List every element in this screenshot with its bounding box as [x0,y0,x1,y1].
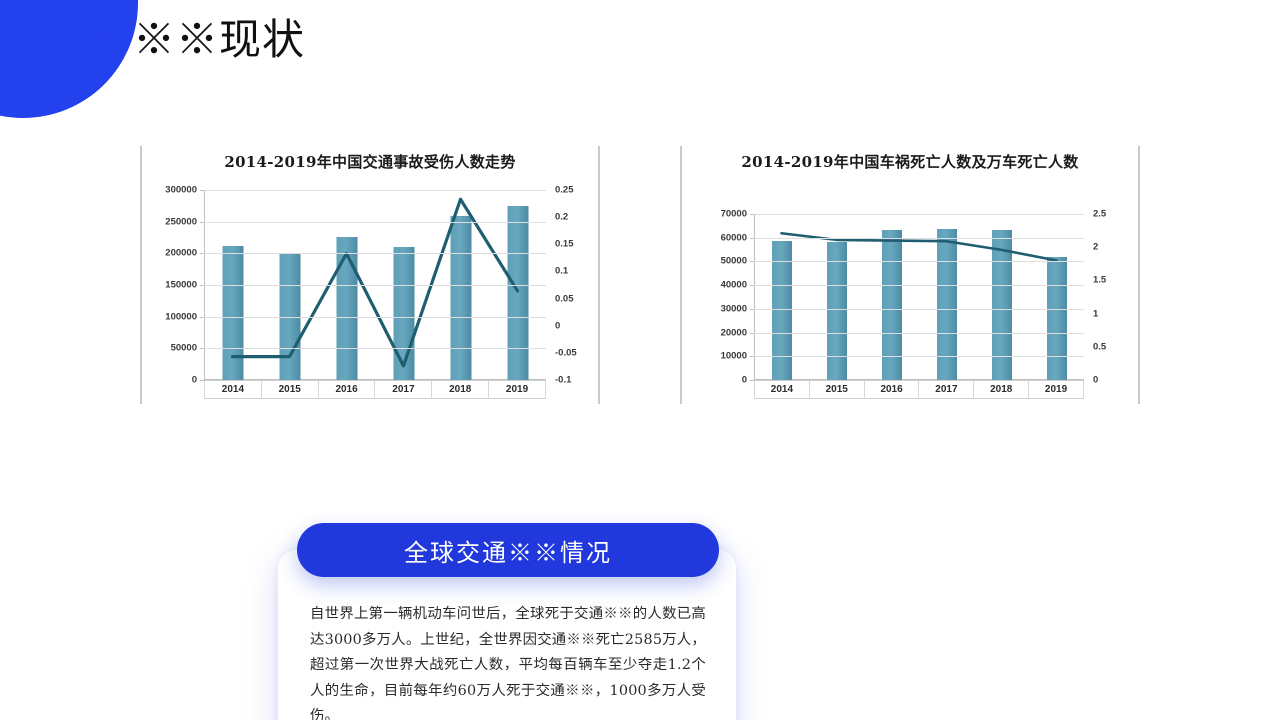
line-series-deaths [754,214,1084,380]
page-title: ※※现状 [133,12,305,68]
secondary-y-axis-tick-label: 0.25 [546,185,574,196]
y-axis-tick-label: 100000 [165,311,204,322]
chart-title-injuries: 2014-2019年中国交通事故受伤人数走势 [142,146,598,174]
x-axis-tick-label: 2016 [319,381,376,399]
secondary-y-axis-tick-label: 1 [1084,308,1098,319]
secondary-y-axis-tick-label: -0.1 [546,375,571,386]
info-card-global: 全球交通※※情况 自世界上第一辆机动车问世后，全球死于交通※※的人数已高达300… [278,550,736,720]
secondary-y-axis-tick-label: 0 [1084,375,1098,386]
grid-line [754,333,1084,334]
y-axis-tick-label: 10000 [721,351,754,362]
y-axis-tick-label: 40000 [721,280,754,291]
y-axis-tick-mark [750,333,754,334]
column-china: 2014-2019年中国车祸死亡人数及万车死亡人数 01000020000300… [680,146,1140,404]
grid-line [754,214,1084,215]
x-axis-labels-deaths: 201420152016201720182019 [754,380,1084,399]
secondary-y-axis-tick-label: 0.15 [546,239,574,250]
y-axis-tick-label: 300000 [165,185,204,196]
y-axis-tick-label: 60000 [721,232,754,243]
y-axis-tick-label: 50000 [721,256,754,267]
y-axis-tick-mark [750,238,754,239]
y-axis-tick-label: 250000 [165,216,204,227]
y-axis-tick-mark [750,309,754,310]
y-axis-tick-mark [750,356,754,357]
secondary-y-axis-tick-label: 2.5 [1084,209,1106,220]
grid-line [204,317,546,318]
x-axis-tick-label: 2014 [204,381,262,399]
y-axis-tick-label: 200000 [165,248,204,259]
grid-line [204,285,546,286]
secondary-y-axis-tick-label: 0.5 [1084,341,1106,352]
y-axis-tick-mark [200,285,204,286]
y-axis-tick-mark [750,261,754,262]
x-axis-tick-label: 2014 [754,381,810,399]
grid-line [204,190,546,191]
slide-root: ※※现状 2014-2019年中国交通事故受伤人数走势 050000100000… [0,0,1280,720]
secondary-y-axis-tick-label: 0 [546,320,560,331]
y-axis-tick-label: 50000 [171,343,204,354]
y-axis-tick-mark [200,222,204,223]
chart-plot-area-deaths: 01000020000300004000050000600007000000.5… [754,214,1084,380]
chart-plot-area-injuries: 050000100000150000200000250000300000-0.1… [204,190,546,380]
chart-injuries: 2014-2019年中国交通事故受伤人数走势 05000010000015000… [140,146,600,404]
x-axis-tick-label: 2015 [810,381,865,399]
y-axis-tick-label: 30000 [721,303,754,314]
x-axis-labels-injuries: 201420152016201720182019 [204,380,546,399]
x-axis-tick-label: 2015 [262,381,319,399]
grid-line [204,348,546,349]
secondary-y-axis-tick-label: 0.2 [546,212,568,223]
y-axis-tick-mark [750,285,754,286]
grid-line [754,261,1084,262]
grid-line [754,309,1084,310]
y-axis-tick-mark [200,190,204,191]
card-pill-global[interactable]: 全球交通※※情况 [297,523,719,577]
secondary-y-axis-tick-label: -0.05 [546,347,577,358]
secondary-y-axis-tick-label: 2 [1084,242,1098,253]
x-axis-tick-label: 2018 [974,381,1029,399]
secondary-y-axis-tick-label: 1.5 [1084,275,1106,286]
x-axis-tick-label: 2017 [375,381,432,399]
x-axis-tick-label: 2019 [1029,381,1084,399]
grid-line [754,238,1084,239]
card-body-global: 自世界上第一辆机动车问世后，全球死于交通※※的人数已高达3000多万人。上世纪，… [310,602,706,720]
x-axis-tick-label: 2018 [432,381,489,399]
chart-title-deaths: 2014-2019年中国车祸死亡人数及万车死亡人数 [682,146,1138,174]
y-axis-tick-mark [200,253,204,254]
column-global: 2014-2019年中国交通事故受伤人数走势 05000010000015000… [140,146,600,404]
y-axis-tick-label: 20000 [721,327,754,338]
grid-line [754,285,1084,286]
y-axis-tick-mark [200,317,204,318]
x-axis-tick-label: 2017 [919,381,974,399]
secondary-y-axis-tick-label: 0.05 [546,293,574,304]
chart-deaths: 2014-2019年中国车祸死亡人数及万车死亡人数 01000020000300… [680,146,1140,404]
y-axis-tick-label: 150000 [165,280,204,291]
grid-line [204,222,546,223]
y-axis-tick-mark [750,214,754,215]
x-axis-tick-label: 2016 [865,381,920,399]
y-axis-tick-label: 70000 [721,209,754,220]
grid-line [754,356,1084,357]
y-axis-tick-mark [200,348,204,349]
grid-line [204,253,546,254]
small-blue-circle-icon [83,37,121,75]
x-axis-tick-label: 2019 [489,381,546,399]
secondary-y-axis-tick-label: 0.1 [546,266,568,277]
